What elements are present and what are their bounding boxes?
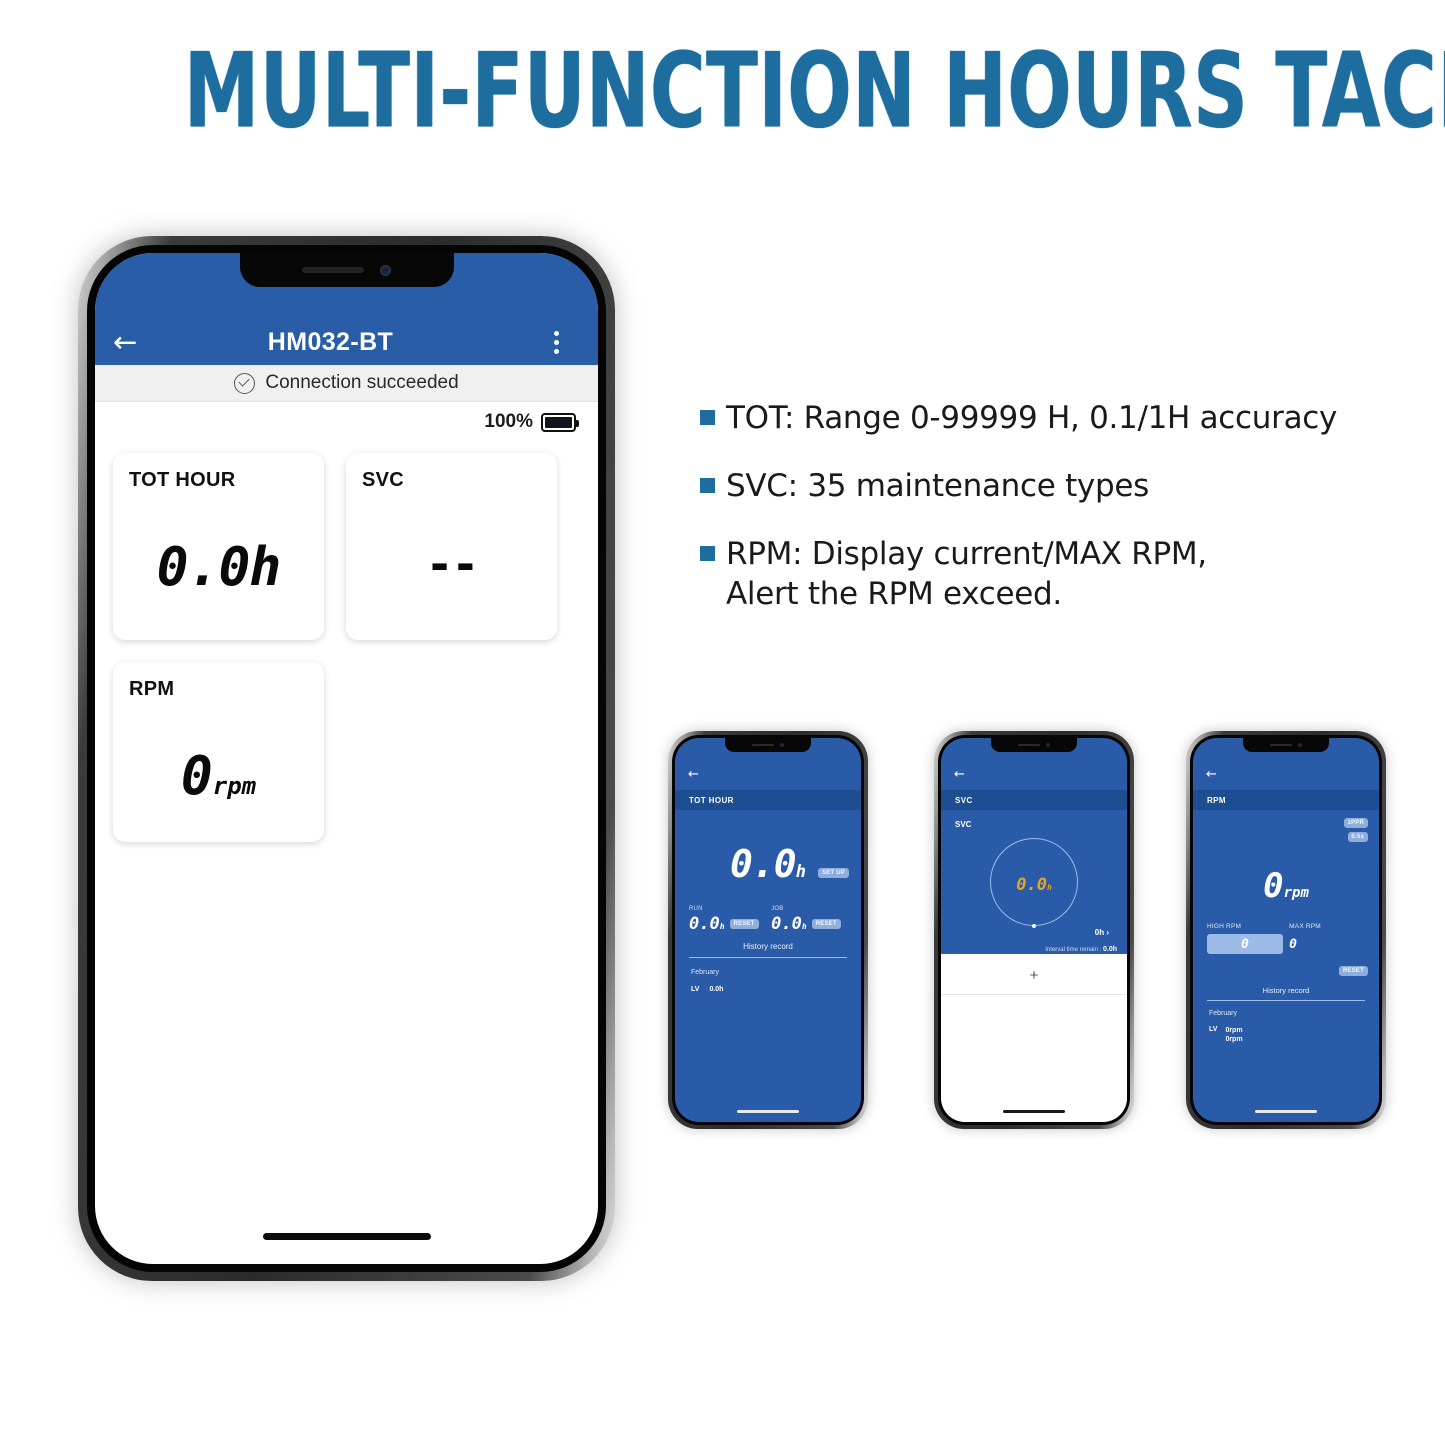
rpm-history-title: History record (1207, 986, 1365, 995)
svc-card-value: -- (346, 537, 557, 591)
rpm-fields: HIGH RPM 0 MAX RPM 0 (1207, 923, 1365, 954)
speaker-grille-icon (1270, 744, 1292, 746)
main-phone-mockup: ← HM032-BT Connection succeeded 100% TOT… (78, 236, 615, 1281)
kebab-menu-icon[interactable] (530, 331, 582, 354)
rpm-card-label: RPM (129, 678, 308, 701)
tot-hour-history-row-label: LV (691, 986, 699, 993)
divider (689, 957, 847, 958)
tot-hour-sub-job-row: 0.0h RESET (771, 914, 847, 934)
tot-hour-sub-run-unit: h (720, 922, 725, 931)
rpm-badges: 1PPR 0.5s (1344, 818, 1368, 842)
feature-item-tot: TOT: Range 0-99999 H, 0.1/1H accuracy (700, 398, 1390, 438)
bullet-square-icon (700, 546, 715, 561)
tot-hour-sub-job-caption: JOB (771, 906, 847, 912)
tot-hour-sub-job-unit: h (802, 922, 807, 931)
svc-card[interactable]: SVC -- (346, 453, 557, 640)
back-arrow-icon[interactable]: ← (688, 768, 699, 781)
tot-hour-card[interactable]: TOT HOUR 0.0h (113, 453, 324, 640)
rpm-card-unit: rpm (213, 772, 256, 800)
battery-percent-text: 100% (484, 411, 533, 433)
svc-gauge-ring: 0.0h (990, 838, 1078, 926)
rpm-history-row-values: 0rpm 0rpm (1225, 1026, 1242, 1044)
app-bar-title: TOT HOUR (689, 796, 734, 805)
feature-item-svc: SVC: 35 maintenance types (700, 466, 1390, 506)
svc-list-area: + (941, 954, 1127, 1122)
phone-notch (991, 738, 1077, 752)
tot-hour-sub-job: JOB 0.0h RESET (771, 906, 847, 934)
tot-hour-main-value-wrap: 0.0h (675, 842, 861, 886)
feature-text-rpm: RPM: Display current/MAX RPM, Alert the … (726, 534, 1207, 614)
tot-hour-history-header: History record (689, 942, 847, 958)
rpm-card-value-wrap: 0rpm (113, 746, 324, 807)
feature-text-tot: TOT: Range 0-99999 H, 0.1/1H accuracy (726, 398, 1337, 438)
svc-hint-value: 0.0h (1103, 946, 1117, 953)
set-up-button[interactable]: SET UP (818, 868, 849, 878)
svc-card-label: SVC (362, 469, 541, 492)
rpm-history-row: LV 0rpm 0rpm (1209, 1026, 1243, 1044)
bullet-square-icon (700, 410, 715, 425)
tot-hour-screen: ← TOT HOUR 0.0h SET UP RUN 0.0h RESET JO… (675, 738, 861, 1122)
svc-gauge-value: 0.0 (1016, 875, 1047, 895)
tot-hour-main-unit: h (796, 862, 806, 882)
mini-phone-bezel: ← SVC SVC 0.0h 0h › Interval time remain… (938, 735, 1130, 1125)
speaker-grille-icon (1018, 744, 1040, 746)
tot-hour-card-label: TOT HOUR (129, 469, 308, 492)
tot-hour-sub-job-value-wrap: 0.0h (771, 914, 807, 934)
svc-hint-row: Interval time remain : 0.0h (953, 946, 1117, 953)
app-bar: TOT HOUR (675, 790, 861, 810)
tot-hour-history-row-value: 0.0h (709, 986, 723, 993)
rpm-ppr-badge[interactable]: 1PPR (1344, 818, 1368, 828)
svc-detail-value: 0h (1095, 928, 1104, 937)
rpm-main-value-wrap: 0rpm (1193, 866, 1379, 906)
svc-section-label: SVC (955, 820, 971, 829)
rpm-main-value: 0 (1263, 866, 1283, 906)
tot-hour-sub-run-caption: RUN (689, 906, 765, 912)
bullet-square-icon (700, 478, 715, 493)
battery-indicator: 100% (484, 411, 576, 433)
rpm-high-field: HIGH RPM 0 (1207, 923, 1283, 954)
mini-phone-bezel: ← TOT HOUR 0.0h SET UP RUN 0.0h RESET JO… (672, 735, 864, 1125)
chevron-right-icon: › (1106, 928, 1109, 937)
front-camera-icon (1298, 743, 1302, 747)
app-bar-title: SVC (955, 796, 973, 805)
app-bar: RPM (1193, 790, 1379, 810)
mini-phone-svc: ← SVC SVC 0.0h 0h › Interval time remain… (934, 731, 1134, 1129)
card-row-top: TOT HOUR 0.0h SVC -- (113, 453, 580, 640)
tot-hour-sub-run-row: 0.0h RESET (689, 914, 765, 934)
tot-hour-sub-values: RUN 0.0h RESET JOB 0.0h RESET (689, 906, 847, 934)
rpm-history-header: History record (1207, 986, 1365, 1001)
tot-hour-sub-run: RUN 0.0h RESET (689, 906, 765, 934)
phone-notch (1243, 738, 1329, 752)
feature-text-svc: SVC: 35 maintenance types (726, 466, 1149, 506)
connection-status-bar: Connection succeeded (95, 365, 598, 402)
svc-gauge-value-wrap: 0.0h (991, 875, 1077, 895)
rpm-high-value: 0 (1241, 937, 1249, 952)
home-indicator (263, 1233, 431, 1240)
divider (941, 994, 1127, 995)
rpm-card-value: 0 (181, 746, 213, 807)
rpm-history-month: February (1209, 1010, 1237, 1017)
tot-hour-sub-job-value: 0.0 (771, 914, 802, 934)
battery-full-icon (541, 413, 576, 432)
speaker-grille-icon (302, 267, 364, 273)
rpm-screen: ← RPM 1PPR 0.5s 0rpm HIGH RPM 0 MAX (1193, 738, 1379, 1122)
banner-title-text: MULTI-FUNCTION HOURS TACHOMETER (184, 38, 1445, 146)
svc-add-button[interactable]: + (941, 968, 1127, 983)
tot-hour-sub-run-reset-button[interactable]: RESET (730, 919, 759, 929)
rpm-max-value: 0 (1289, 937, 1297, 952)
front-camera-icon (780, 743, 784, 747)
rpm-max-caption: MAX RPM (1289, 923, 1365, 930)
main-phone-bezel: ← HM032-BT Connection succeeded 100% TOT… (87, 245, 606, 1272)
connection-status-text: Connection succeeded (265, 372, 458, 394)
rpm-card[interactable]: RPM 0rpm (113, 662, 324, 842)
rpm-reset-button[interactable]: RESET (1339, 966, 1368, 976)
app-bar: SVC (941, 790, 1127, 810)
tot-hour-sub-job-reset-button[interactable]: RESET (812, 919, 841, 929)
app-bar-title: HM032-BT (131, 328, 530, 357)
tot-hour-sub-run-value-wrap: 0.0h (689, 914, 725, 934)
front-camera-icon (380, 265, 391, 276)
feature-list: TOT: Range 0-99999 H, 0.1/1H accuracy SV… (700, 398, 1390, 642)
rpm-high-caption: HIGH RPM (1207, 923, 1283, 930)
page-title: MULTI-FUNCTION HOURS TACHOMETER (0, 38, 1445, 134)
back-arrow-icon[interactable]: ← (1206, 768, 1217, 781)
divider (1207, 1000, 1365, 1001)
back-arrow-icon[interactable]: ← (954, 768, 965, 781)
mini-phone-tot-hour: ← TOT HOUR 0.0h SET UP RUN 0.0h RESET JO… (668, 731, 868, 1129)
home-indicator (737, 1110, 799, 1113)
rpm-interval-badge[interactable]: 0.5s (1348, 832, 1368, 842)
check-circle-icon (234, 373, 255, 394)
svc-screen: ← SVC SVC 0.0h 0h › Interval time remain… (941, 738, 1127, 1122)
front-camera-icon (1046, 743, 1050, 747)
tot-hour-card-value: 0.0h (113, 537, 324, 598)
rpm-main-unit: rpm (1284, 885, 1309, 901)
rpm-max-value-wrap: 0 (1289, 934, 1365, 954)
dashboard-cards: TOT HOUR 0.0h SVC -- RPM 0rpm (95, 453, 598, 842)
app-bar: ← HM032-BT (95, 319, 598, 365)
phone-notch (240, 253, 454, 287)
card-row-bottom: RPM 0rpm (113, 640, 580, 842)
svc-hint-text: Interval time remain : (1045, 947, 1101, 953)
tot-hour-history-title: History record (689, 942, 847, 951)
rpm-history-row-label: LV (1209, 1026, 1217, 1044)
tot-hour-history-month: February (691, 969, 719, 976)
tot-hour-sub-run-value: 0.0 (689, 914, 720, 934)
svc-detail-link[interactable]: 0h › (1095, 928, 1109, 937)
rpm-history-value-max: 0rpm (1225, 1035, 1242, 1044)
rpm-high-input[interactable]: 0 (1207, 934, 1283, 954)
speaker-grille-icon (752, 744, 774, 746)
home-indicator (1255, 1110, 1317, 1113)
rpm-max-field: MAX RPM 0 (1289, 923, 1365, 954)
main-phone-screen: ← HM032-BT Connection succeeded 100% TOT… (95, 253, 598, 1264)
mini-phone-rpm: ← RPM 1PPR 0.5s 0rpm HIGH RPM 0 MAX (1186, 731, 1386, 1129)
tot-hour-main-value: 0.0 (730, 842, 796, 886)
svc-gauge-unit: h (1047, 883, 1052, 892)
home-indicator (1003, 1110, 1065, 1113)
tot-hour-history-row: LV 0.0h (691, 986, 723, 993)
phone-notch (725, 738, 811, 752)
rpm-history-value-current: 0rpm (1225, 1026, 1242, 1035)
mini-phone-bezel: ← RPM 1PPR 0.5s 0rpm HIGH RPM 0 MAX (1190, 735, 1382, 1125)
feature-item-rpm: RPM: Display current/MAX RPM, Alert the … (700, 534, 1390, 614)
app-bar-title: RPM (1207, 796, 1226, 805)
